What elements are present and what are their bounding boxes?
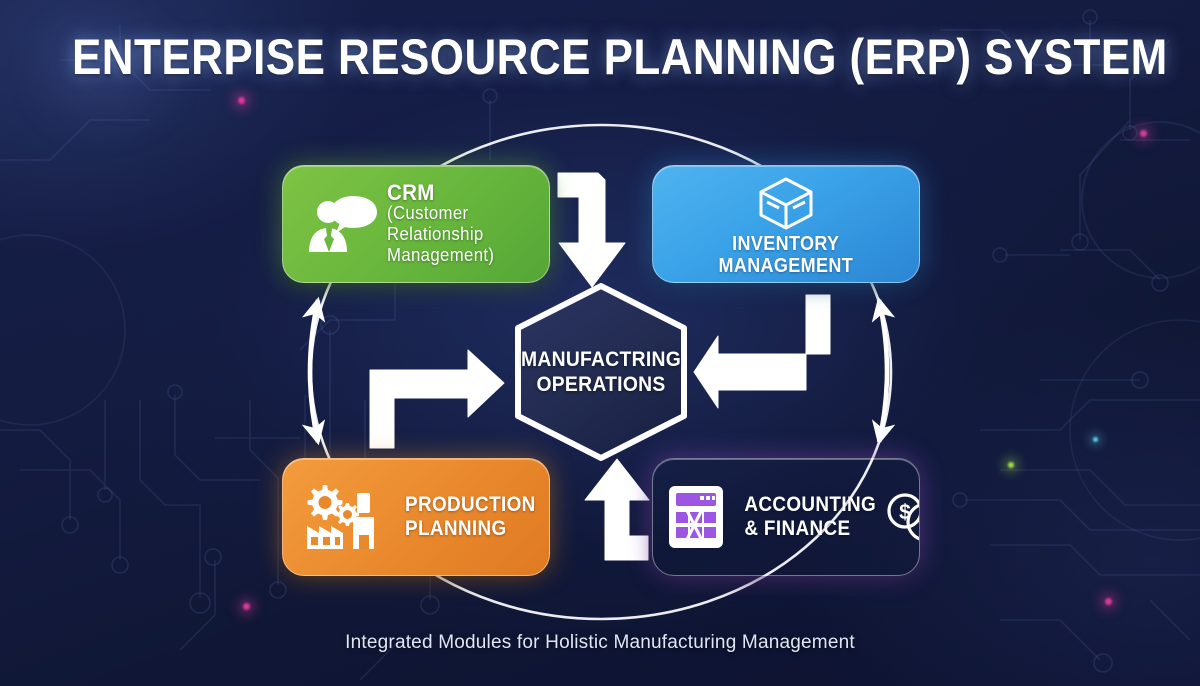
inventory-line1: INVENTORY <box>719 233 854 255</box>
box-cube-icon <box>756 175 816 231</box>
glow-dot-green-right <box>1008 462 1014 468</box>
arrow-accounting-to-center <box>585 459 649 560</box>
arrow-crm-to-center <box>558 173 625 287</box>
arrow-inventory-to-center <box>694 295 830 408</box>
module-card-inventory-label: INVENTORY MANAGEMENT <box>719 233 854 277</box>
page-subtitle: Integrated Modules for Holistic Manufact… <box>0 632 1200 654</box>
production-line1: PRODUCTION <box>405 493 536 517</box>
glow-dot-magenta-right <box>1140 130 1147 137</box>
calculator-icon <box>667 484 725 550</box>
arrow-production-to-center <box>370 350 504 448</box>
crm-subtitle-line3: Management) <box>387 245 494 266</box>
module-card-accounting-finance[interactable]: ACCOUNTING & FINANCE $ $ <box>652 458 920 576</box>
center-line1: MANUFACTRING <box>521 347 681 372</box>
glow-dot-magenta-left <box>238 97 245 104</box>
center-node-manufacturing-operations[interactable]: MANUFACTRING OPERATIONS <box>503 281 699 463</box>
page-title: ENTERPISE RESOURCE PLANNING (ERP) SYSTEM <box>72 26 1128 88</box>
module-card-inventory-management[interactable]: INVENTORY MANAGEMENT <box>652 165 920 283</box>
crm-subtitle-line1: (Customer <box>387 203 494 224</box>
center-line2: OPERATIONS <box>536 372 665 397</box>
center-node-label: MANUFACTRING OPERATIONS <box>511 281 691 463</box>
module-card-crm[interactable]: CRM (Customer Relationship Management) <box>282 165 550 283</box>
glow-dot-magenta-lower-left <box>243 603 250 610</box>
glow-dot-cyan-right <box>1093 437 1098 442</box>
module-card-accounting-label: ACCOUNTING & FINANCE <box>744 493 876 541</box>
inventory-line2: MANAGEMENT <box>719 255 854 277</box>
svg-text:$: $ <box>899 501 911 524</box>
module-card-production-label: PRODUCTION PLANNING <box>405 493 536 541</box>
production-line2: PLANNING <box>405 517 536 541</box>
coins-dollar-icon: $ $ <box>883 488 920 546</box>
crm-subtitle-line2: Relationship <box>387 224 494 245</box>
module-card-crm-label: CRM (Customer Relationship Management) <box>387 182 494 266</box>
module-card-production-planning[interactable]: PRODUCTION PLANNING <box>282 458 550 576</box>
factory-gears-icon <box>305 481 389 553</box>
glow-dot-magenta-right-lower <box>1105 598 1112 605</box>
accounting-line1: ACCOUNTING <box>744 493 876 517</box>
crm-title: CRM <box>387 182 494 203</box>
accounting-line2: & FINANCE <box>744 517 876 541</box>
user-speech-bubble-icon <box>301 190 379 258</box>
erp-diagram-canvas: ENTERPISE RESOURCE PLANNING (ERP) SYSTEM <box>0 0 1200 686</box>
